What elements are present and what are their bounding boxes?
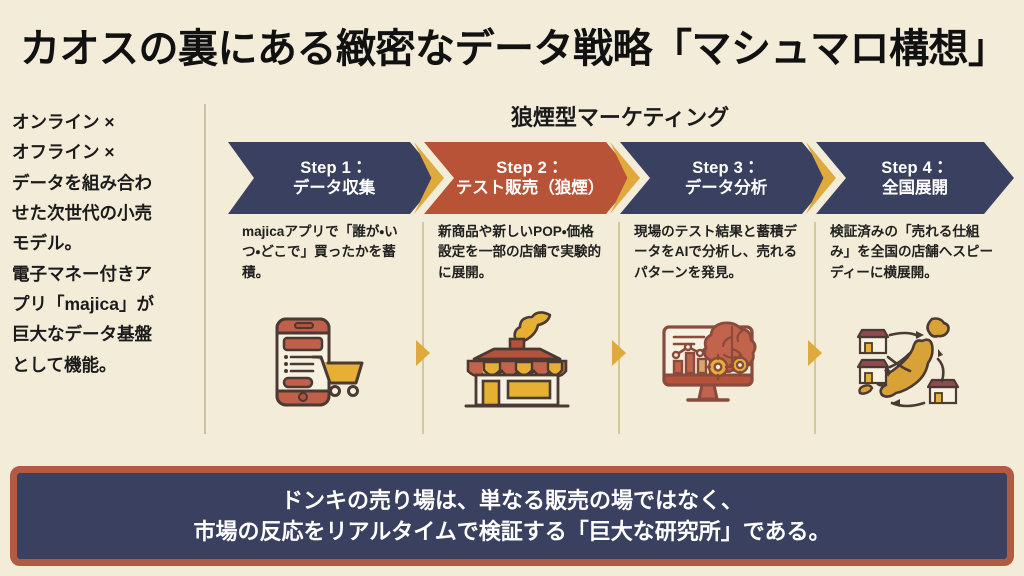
step-icon-container-2 [424,296,610,426]
sidebar-line: モデル。 [12,229,194,257]
step-description: majicaアプリで「誰が・いつ・どこで」買ったかを蓄積。 [228,222,414,283]
conclusion-banner: ドンキの売り場は、単なる販売の場ではなく、 市場の反応をリアルタイムで検証する「… [10,466,1014,566]
step-column-1: majicaアプリで「誰が・いつ・どこで」買ったかを蓄積。 [228,222,414,432]
store-glyph [858,330,888,353]
monitor-chart-brain-gears-icon [654,305,772,417]
step-description: 新商品や新しいPOP・価格設定を一部の店舗で実験的に展開。 [424,222,610,283]
step-label-line1: Step 4： [881,158,948,178]
sidebar-line: せた次世代の小売 [12,199,194,227]
banner-line-2: 市場の反応をリアルタイムで検証する「巨大な研究所」である。 [193,516,830,547]
step-label-line2: テスト販売（狼煙） [456,178,605,198]
sidebar-line: 電子マネー付きア [12,260,194,288]
page-title: カオスの裏にある緻密なデータ戦略「マシュマロ構想」 [20,14,1004,76]
smartphone-shopping-cart-icon [265,305,377,417]
sidebar-line: オンライン × [12,108,194,136]
step-icon-container-3 [620,296,806,426]
step-label-line1: Step 3： [692,158,759,178]
store-glyph [928,380,958,403]
store-glyph [858,360,888,383]
sidebar-line: データを組み合わ [12,169,194,197]
step-detail-columns: majicaアプリで「誰が・いつ・どこで」買ったかを蓄積。 [228,222,1014,432]
step-column-2: 新商品や新しいPOP・価格設定を一部の店舗で実験的に展開。 [424,222,610,432]
step-icon-container-4 [816,296,1002,426]
sidebar-line: 巨大なデータ基盤 [12,320,194,348]
step-label-line2: データ分析 [685,178,768,198]
vertical-divider-left [204,104,206,434]
step-chevron-4[interactable]: Step 4： 全国展開 [816,142,1014,214]
flow-heading: 狼煙型マーケティング [230,100,1010,132]
sidebar-line: オフライン × [12,138,194,166]
japan-map-stores-arrows-icon [850,305,968,417]
step-label-line2: データ収集 [293,178,376,198]
step-chevron-1[interactable]: Step 1： データ収集 [228,142,440,214]
slide-root: カオスの裏にある緻密なデータ戦略「マシュマロ構想」 オンライン × オフライン … [0,0,1024,576]
sidebar-description: オンライン × オフライン × データを組み合わ せた次世代の小売 モデル。 電… [12,108,194,381]
step-column-3: 現場のテスト結果と蓄積データをAIで分析し、売れるパターンを発見。 [620,222,806,432]
step-label-line1: Step 1： [300,158,367,178]
step-label-line2: 全国展開 [882,178,948,198]
step-chevron-3[interactable]: Step 3： データ分析 [620,142,832,214]
step-icon-container-1 [228,296,414,426]
step-label-line1: Step 2： [496,158,563,178]
step-description: 検証済みの「売れる仕組み」を全国の店舗へスピーディーに横展開。 [816,222,1002,283]
sidebar-line: プリ「majica」が [12,290,194,318]
banner-line-1: ドンキの売り場は、単なる販売の場ではなく、 [281,485,743,516]
step-flow-bar: Step 1： データ収集 Step 2： テスト販売（狼煙） Step 3： … [228,142,1014,214]
shop-with-smoke-signal-icon [458,305,576,417]
sidebar-line: として機能。 [12,351,194,379]
step-chevron-2[interactable]: Step 2： テスト販売（狼煙） [424,142,636,214]
step-description: 現場のテスト結果と蓄積データをAIで分析し、売れるパターンを発見。 [620,222,806,283]
step-column-4: 検証済みの「売れる仕組み」を全国の店舗へスピーディーに横展開。 [816,222,1002,432]
